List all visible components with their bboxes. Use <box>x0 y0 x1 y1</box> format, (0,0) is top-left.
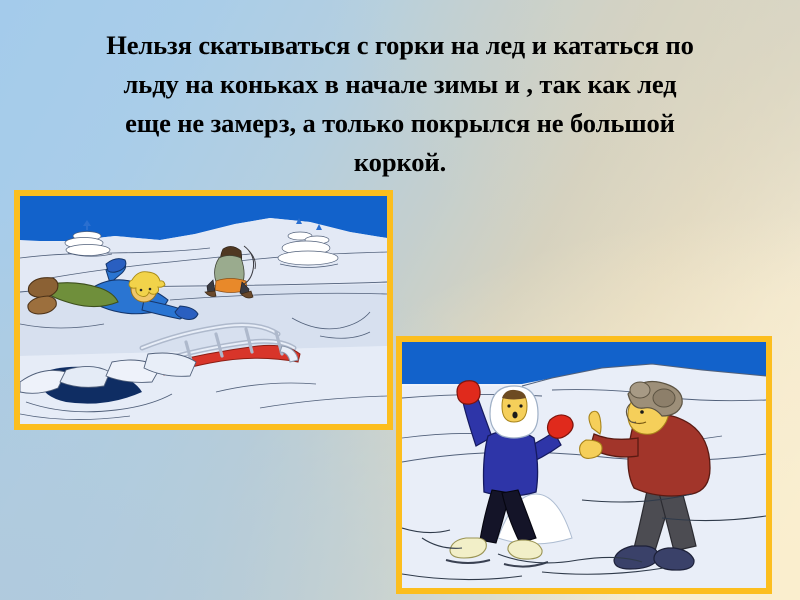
girl-coat <box>484 430 538 496</box>
caption-line-3: еще не замерз, а только покрылся не боль… <box>44 104 756 143</box>
caption-line-2: льду на коньках в начале зимы и , так ка… <box>44 65 756 104</box>
caption-line-1: Нельзя скатываться с горки на лед и ката… <box>44 26 756 65</box>
image-skating-warning <box>396 336 772 594</box>
sledding-illustration <box>20 196 387 424</box>
hat-flap-right <box>653 389 675 407</box>
caption-line-4: коркой. <box>44 143 756 182</box>
sledding-scene <box>20 196 387 424</box>
girl-mouth <box>512 412 517 419</box>
man-hand <box>580 440 602 458</box>
slide-caption: Нельзя скатываться с горки на лед и ката… <box>44 26 756 182</box>
slide-canvas: Нельзя скатываться с горки на лед и ката… <box>0 0 800 600</box>
image-sledding-accident <box>14 190 393 430</box>
skating-illustration <box>402 342 766 588</box>
mitten-up <box>457 381 480 404</box>
hat-flap-left <box>630 382 650 398</box>
skating-scene <box>402 342 766 588</box>
ice-floe-2 <box>60 366 110 387</box>
